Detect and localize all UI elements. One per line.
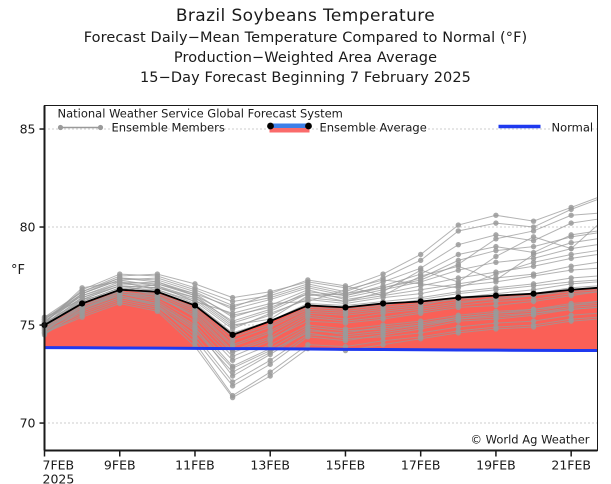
ensemble-member-marker [568, 264, 573, 269]
ensemble-member-marker [456, 228, 461, 233]
x-axis-year-label: 2025 [43, 472, 75, 484]
ensemble-member-marker [268, 373, 273, 378]
ensemble-member-marker [456, 301, 461, 306]
x-tick-label: 19FEB [476, 458, 516, 473]
ensemble-member-marker [343, 311, 348, 316]
ensemble-member-marker [268, 313, 273, 318]
ensemble-member-marker [117, 301, 122, 306]
chart-plot-area: 70758085°F7FEB9FEB11FEB13FEB15FEB17FEB19… [0, 0, 611, 484]
ensemble-member-marker [380, 342, 385, 347]
ensemble-member-marker [79, 285, 84, 290]
ensemble-member-marker [493, 260, 498, 265]
ensemble-member-marker [493, 248, 498, 253]
ensemble-member-marker [380, 289, 385, 294]
ensemble-member-marker [493, 271, 498, 276]
ensemble-average-marker [79, 300, 85, 306]
ensemble-member-marker [380, 271, 385, 276]
legend-label-ensemble-members: Ensemble Members [112, 121, 225, 135]
ensemble-member-marker [192, 311, 197, 316]
ensemble-member-marker [268, 291, 273, 296]
ensemble-member-marker [493, 320, 498, 325]
x-tick-label: 15FEB [326, 458, 366, 473]
ensemble-member-marker [531, 318, 536, 323]
ensemble-member-marker [568, 281, 573, 286]
ensemble-member-marker [531, 271, 536, 276]
ensemble-member-marker [456, 324, 461, 329]
ensemble-member-marker [343, 316, 348, 321]
ensemble-member-marker [531, 234, 536, 239]
ensemble-member-marker [531, 224, 536, 229]
legend-header: National Weather Service Global Forecast… [58, 107, 343, 121]
ensemble-member-marker [380, 277, 385, 282]
ensemble-member-marker [418, 287, 423, 292]
x-tick-label: 7FEB [43, 458, 75, 473]
legend-average-band-bottom [270, 128, 310, 133]
ensemble-member-marker [268, 334, 273, 339]
ensemble-member-marker [230, 324, 235, 329]
ensemble-member-marker [418, 281, 423, 286]
ensemble-member-marker [493, 232, 498, 237]
ensemble-average-marker [117, 287, 123, 293]
ensemble-member-marker [456, 264, 461, 269]
ensemble-member-marker [493, 213, 498, 218]
x-tick-label: 9FEB [104, 458, 136, 473]
ensemble-member-marker [456, 285, 461, 290]
ensemble-member-marker [493, 220, 498, 225]
legend-member-marker [98, 125, 103, 130]
x-tick-label: 13FEB [250, 458, 290, 473]
ensemble-member-marker [155, 309, 160, 314]
ensemble-average-marker [342, 304, 348, 310]
ensemble-member-marker [568, 318, 573, 323]
ensemble-member-marker [456, 330, 461, 335]
ensemble-member-marker [568, 205, 573, 210]
ensemble-member-marker [230, 305, 235, 310]
ensemble-member-marker [230, 318, 235, 323]
ensemble-average-marker [192, 302, 198, 308]
ensemble-member-marker [568, 246, 573, 251]
ensemble-average-marker [418, 298, 424, 304]
ensemble-member-marker [117, 275, 122, 280]
legend-label-normal: Normal [552, 121, 594, 135]
ensemble-member-marker [230, 395, 235, 400]
legend-label-ensemble-average: Ensemble Average [320, 121, 427, 135]
credit-label: © World Ag Weather [470, 433, 589, 447]
ensemble-member-marker [230, 342, 235, 347]
ensemble-average-marker [455, 295, 461, 301]
ensemble-average-marker [530, 291, 536, 297]
y-axis-title: °F [11, 263, 25, 278]
ensemble-member-marker [230, 365, 235, 370]
legend-average-band-top [270, 124, 310, 129]
ensemble-average-marker [568, 287, 574, 293]
ensemble-average-marker [380, 300, 386, 306]
ensemble-member-marker [305, 330, 310, 335]
ensemble-member-marker [155, 295, 160, 300]
ensemble-member-marker [343, 293, 348, 298]
ensemble-member-marker [531, 307, 536, 312]
ensemble-average-marker [267, 318, 273, 324]
ensemble-member-marker [493, 311, 498, 316]
ensemble-member-marker [155, 279, 160, 284]
ensemble-member-marker [418, 307, 423, 312]
ensemble-member-marker [79, 291, 84, 296]
ensemble-member-marker [456, 222, 461, 227]
ensemble-member-marker [192, 326, 197, 331]
ensemble-member-marker [230, 354, 235, 359]
ensemble-average-marker [305, 302, 311, 308]
ensemble-member-marker [493, 277, 498, 282]
ensemble-member-marker [568, 240, 573, 245]
ensemble-member-marker [305, 313, 310, 318]
ensemble-member-marker [343, 299, 348, 304]
chart-root: Brazil Soybeans Temperature Forecast Dai… [0, 0, 611, 484]
ensemble-member-marker [418, 322, 423, 327]
x-tick-label: 11FEB [175, 458, 215, 473]
ensemble-member-marker [493, 326, 498, 331]
y-tick-label: 75 [20, 318, 36, 333]
ensemble-member-marker [268, 328, 273, 333]
legend-average-marker [305, 123, 312, 130]
x-tick-label: 17FEB [401, 458, 441, 473]
ensemble-member-marker [418, 273, 423, 278]
ensemble-member-marker [493, 254, 498, 259]
ensemble-member-marker [230, 295, 235, 300]
ensemble-member-marker [79, 315, 84, 320]
ensemble-average-marker [154, 289, 160, 295]
ensemble-member-marker [230, 313, 235, 318]
ensemble-member-marker [531, 244, 536, 249]
ensemble-member-marker [155, 271, 160, 276]
ensemble-member-marker [456, 315, 461, 320]
ensemble-member-marker [230, 379, 235, 384]
ensemble-member-marker [380, 311, 385, 316]
ensemble-member-marker [418, 258, 423, 263]
ensemble-member-marker [192, 293, 197, 298]
ensemble-member-marker [456, 252, 461, 257]
ensemble-member-marker [268, 358, 273, 363]
ensemble-member-marker [268, 305, 273, 310]
ensemble-member-marker [568, 313, 573, 318]
y-tick-label: 70 [20, 416, 36, 431]
ensemble-member-marker [568, 220, 573, 225]
y-tick-label: 85 [20, 122, 36, 137]
ensemble-member-marker [380, 328, 385, 333]
ensemble-member-marker [305, 277, 310, 282]
ensemble-member-marker [568, 252, 573, 257]
ensemble-member-marker [568, 234, 573, 239]
ensemble-average-marker [229, 332, 235, 338]
ensemble-member-marker [418, 336, 423, 341]
ensemble-member-marker [456, 242, 461, 247]
ensemble-member-marker [531, 252, 536, 257]
ensemble-member-marker [418, 330, 423, 335]
ensemble-average-marker [493, 293, 499, 299]
ensemble-member-marker [343, 283, 348, 288]
ensemble-member-marker [531, 218, 536, 223]
ensemble-member-marker [531, 260, 536, 265]
x-axis-ticks: 7FEB9FEB11FEB13FEB15FEB17FEB19FEB21FEB [43, 451, 591, 473]
legend-average-marker [267, 123, 274, 130]
ensemble-member-marker [568, 303, 573, 308]
ensemble-member-marker [343, 336, 348, 341]
ensemble-member-marker [418, 252, 423, 257]
ensemble-member-marker [568, 213, 573, 218]
ensemble-member-marker [305, 291, 310, 296]
ensemble-member-marker [155, 301, 160, 306]
ensemble-member-marker [456, 279, 461, 284]
ensemble-member-marker [418, 267, 423, 272]
ensemble-member-marker [380, 334, 385, 339]
legend-member-marker [58, 125, 63, 130]
ensemble-member-marker [531, 324, 536, 329]
x-tick-label: 21FEB [551, 458, 591, 473]
y-tick-label: 80 [20, 220, 36, 235]
ensemble-member-marker [456, 258, 461, 263]
ensemble-member-marker [192, 281, 197, 286]
